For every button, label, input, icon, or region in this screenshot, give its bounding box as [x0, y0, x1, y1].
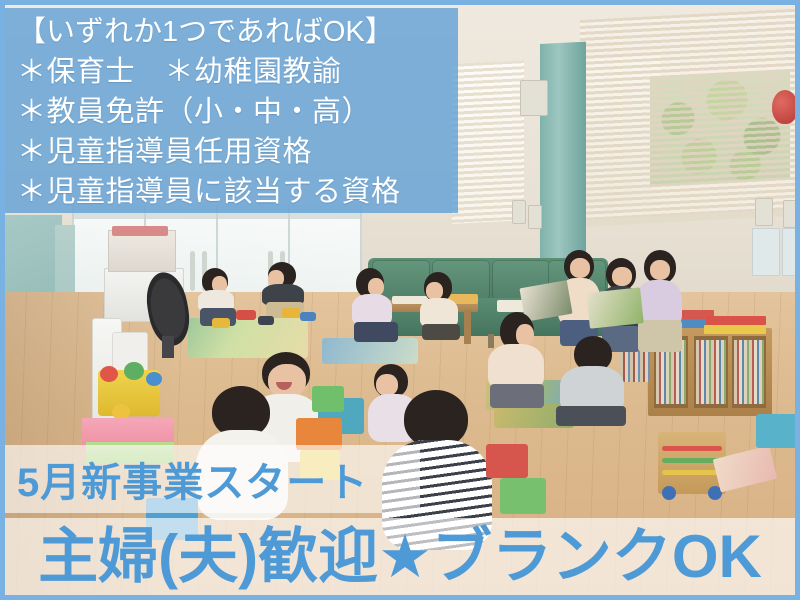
wall-device-panel	[520, 80, 548, 116]
foam-block-red-floor	[486, 444, 528, 478]
toy-car-4	[282, 308, 300, 318]
toy-ball-green	[124, 362, 144, 380]
child-face	[516, 324, 534, 346]
toy-car-1	[212, 318, 230, 328]
open-book-2	[586, 287, 643, 328]
child-legs	[556, 406, 626, 426]
boardgame-box-3	[706, 316, 766, 325]
child-face	[612, 267, 632, 286]
child-face	[650, 260, 670, 280]
wall-card-1	[752, 228, 780, 276]
shelf-upper	[108, 230, 176, 272]
door-handle-1	[190, 251, 195, 291]
news-band: 5月新事業スタート	[5, 445, 420, 513]
main-headline-band: 主婦(夫)歓迎★ブランクOK	[5, 518, 795, 595]
wall-decoration-red	[772, 90, 798, 124]
child-legs	[354, 322, 398, 342]
main-headline-text: 主婦(夫)歓迎★ブランクOK	[38, 527, 762, 587]
window-with-blinds	[580, 8, 800, 227]
toy-cart-rail-red	[662, 446, 722, 451]
child-at-table-1	[352, 268, 396, 342]
child-reading-3	[636, 250, 682, 352]
table-leg-2	[464, 310, 471, 344]
wall-switch-3	[755, 198, 773, 226]
shelf-item-red	[112, 226, 168, 236]
toy-ball-blue	[146, 372, 162, 386]
child-legs	[422, 324, 460, 340]
fan-stand	[162, 336, 174, 358]
toy-car-2	[236, 310, 256, 320]
child-at-table-2	[418, 272, 460, 338]
window-blinds	[580, 8, 800, 220]
poster-root: 【いずれか1つであればOK】 ＊保育士 ＊幼稚園教諭 ＊教員免許（小・中・高） …	[0, 0, 800, 600]
qualification-line-4: ＊児童指導員任用資格	[17, 132, 458, 172]
qualification-line-3: ＊教員免許（小・中・高）	[17, 92, 458, 132]
toy-car-5	[300, 312, 316, 321]
child-puzzle-girl	[488, 312, 548, 408]
child-back-boy	[556, 336, 628, 424]
child-face	[570, 258, 590, 278]
toy-ball-red	[100, 366, 118, 382]
wall-switch-4	[783, 200, 799, 228]
qualification-line-2: ＊保育士 ＊幼稚園教諭	[17, 52, 458, 92]
qualification-line-1: 【いずれか1つであればOK】	[17, 12, 458, 52]
toy-car-3	[258, 316, 274, 325]
books-2	[696, 340, 726, 404]
toy-cart-rail-yellow	[662, 470, 722, 475]
child-legs	[638, 320, 682, 352]
wall-card-2	[782, 228, 800, 276]
books-3	[734, 340, 764, 404]
child-legs	[490, 384, 544, 408]
toy-cart-wheel-left	[662, 486, 676, 500]
foam-block-cyan-right	[756, 414, 798, 448]
wall-switch-2	[528, 205, 542, 229]
boardgame-box-4	[704, 325, 766, 334]
foam-block-green	[312, 386, 344, 412]
qualification-line-5: ＊児童指導員に該当する資格	[17, 172, 458, 212]
wall-switch-1	[512, 200, 526, 224]
qualifications-panel: 【いずれか1つであればOK】 ＊保育士 ＊幼稚園教諭 ＊教員免許（小・中・高） …	[5, 8, 458, 213]
news-band-text: 5月新事業スタート	[17, 450, 368, 508]
foam-block-green-floor	[500, 478, 546, 514]
